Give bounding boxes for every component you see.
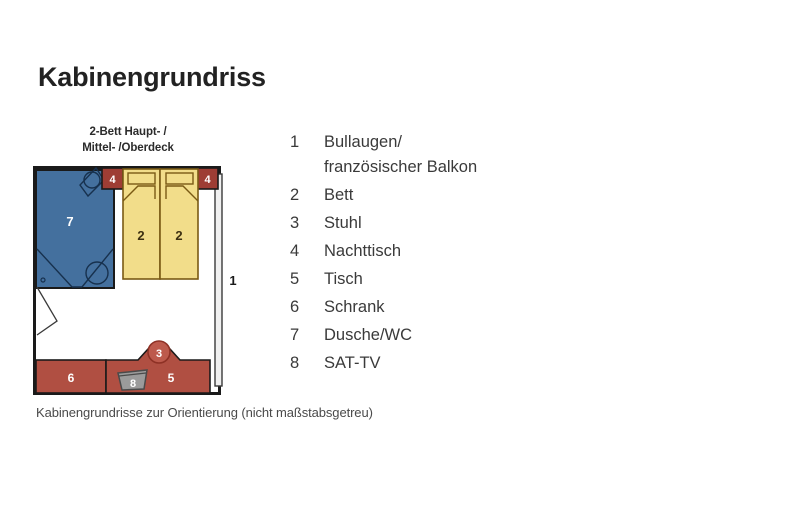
legend-item-8: 8 SAT-TV — [290, 351, 590, 376]
marker-balcony: 1 — [229, 273, 236, 288]
cabin-floorplan-diagram: 1 7 4 4 2 2 6 5 — [30, 163, 245, 401]
legend-number: 4 — [290, 239, 324, 264]
legend-label-line-2: französischer Balkon — [324, 155, 477, 180]
marker-wardrobe: 6 — [68, 371, 75, 385]
deck-label-line-1: 2-Bett Haupt- / — [89, 126, 166, 138]
legend-item-5: 5 Tisch — [290, 267, 590, 292]
legend-label-line-1: Bullaugen/ — [324, 133, 402, 151]
legend-number: 7 — [290, 323, 324, 348]
balcony-window — [215, 174, 222, 386]
legend-label: Bett — [324, 183, 353, 208]
marker-chair: 3 — [156, 348, 162, 360]
legend-number: 6 — [290, 295, 324, 320]
legend-item-2: 2 Bett — [290, 183, 590, 208]
legend-item-1: 1 Bullaugen/ französischer Balkon — [290, 130, 590, 180]
legend-label: Schrank — [324, 295, 385, 320]
legend-item-3: 3 Stuhl — [290, 211, 590, 236]
marker-sat-tv: 8 — [130, 378, 136, 390]
deck-type-label: 2-Bett Haupt- / Mittel- /Oberdeck — [30, 124, 226, 156]
legend-item-4: 4 Nachttisch — [290, 239, 590, 264]
legend-label: Dusche/WC — [324, 323, 412, 348]
marker-nightstand-left: 4 — [109, 174, 116, 186]
bed-right-pillow — [166, 173, 193, 184]
marker-nightstand-right: 4 — [204, 174, 211, 186]
legend-number: 2 — [290, 183, 324, 208]
marker-bed-left: 2 — [137, 228, 144, 243]
legend-number: 1 — [290, 130, 324, 155]
legend-number: 3 — [290, 211, 324, 236]
legend-label: SAT-TV — [324, 351, 381, 376]
floorplan-caption: Kabinengrundrisse zur Orientierung (nich… — [36, 405, 373, 420]
legend-label: Nachttisch — [324, 239, 401, 264]
legend-item-7: 7 Dusche/WC — [290, 323, 590, 348]
legend-number: 5 — [290, 267, 324, 292]
marker-bathroom: 7 — [66, 214, 73, 229]
legend-item-6: 6 Schrank — [290, 295, 590, 320]
page-title: Kabinengrundriss — [38, 62, 266, 93]
deck-label-line-2: Mittel- /Oberdeck — [82, 142, 174, 154]
legend-label: Bullaugen/ französischer Balkon — [324, 130, 477, 180]
floorplan-legend: 1 Bullaugen/ französischer Balkon 2 Bett… — [290, 130, 590, 379]
legend-label: Stuhl — [324, 211, 362, 236]
marker-table: 5 — [168, 371, 175, 385]
bed-left-pillow — [128, 173, 155, 184]
legend-label: Tisch — [324, 267, 363, 292]
legend-number: 8 — [290, 351, 324, 376]
marker-bed-right: 2 — [175, 228, 182, 243]
